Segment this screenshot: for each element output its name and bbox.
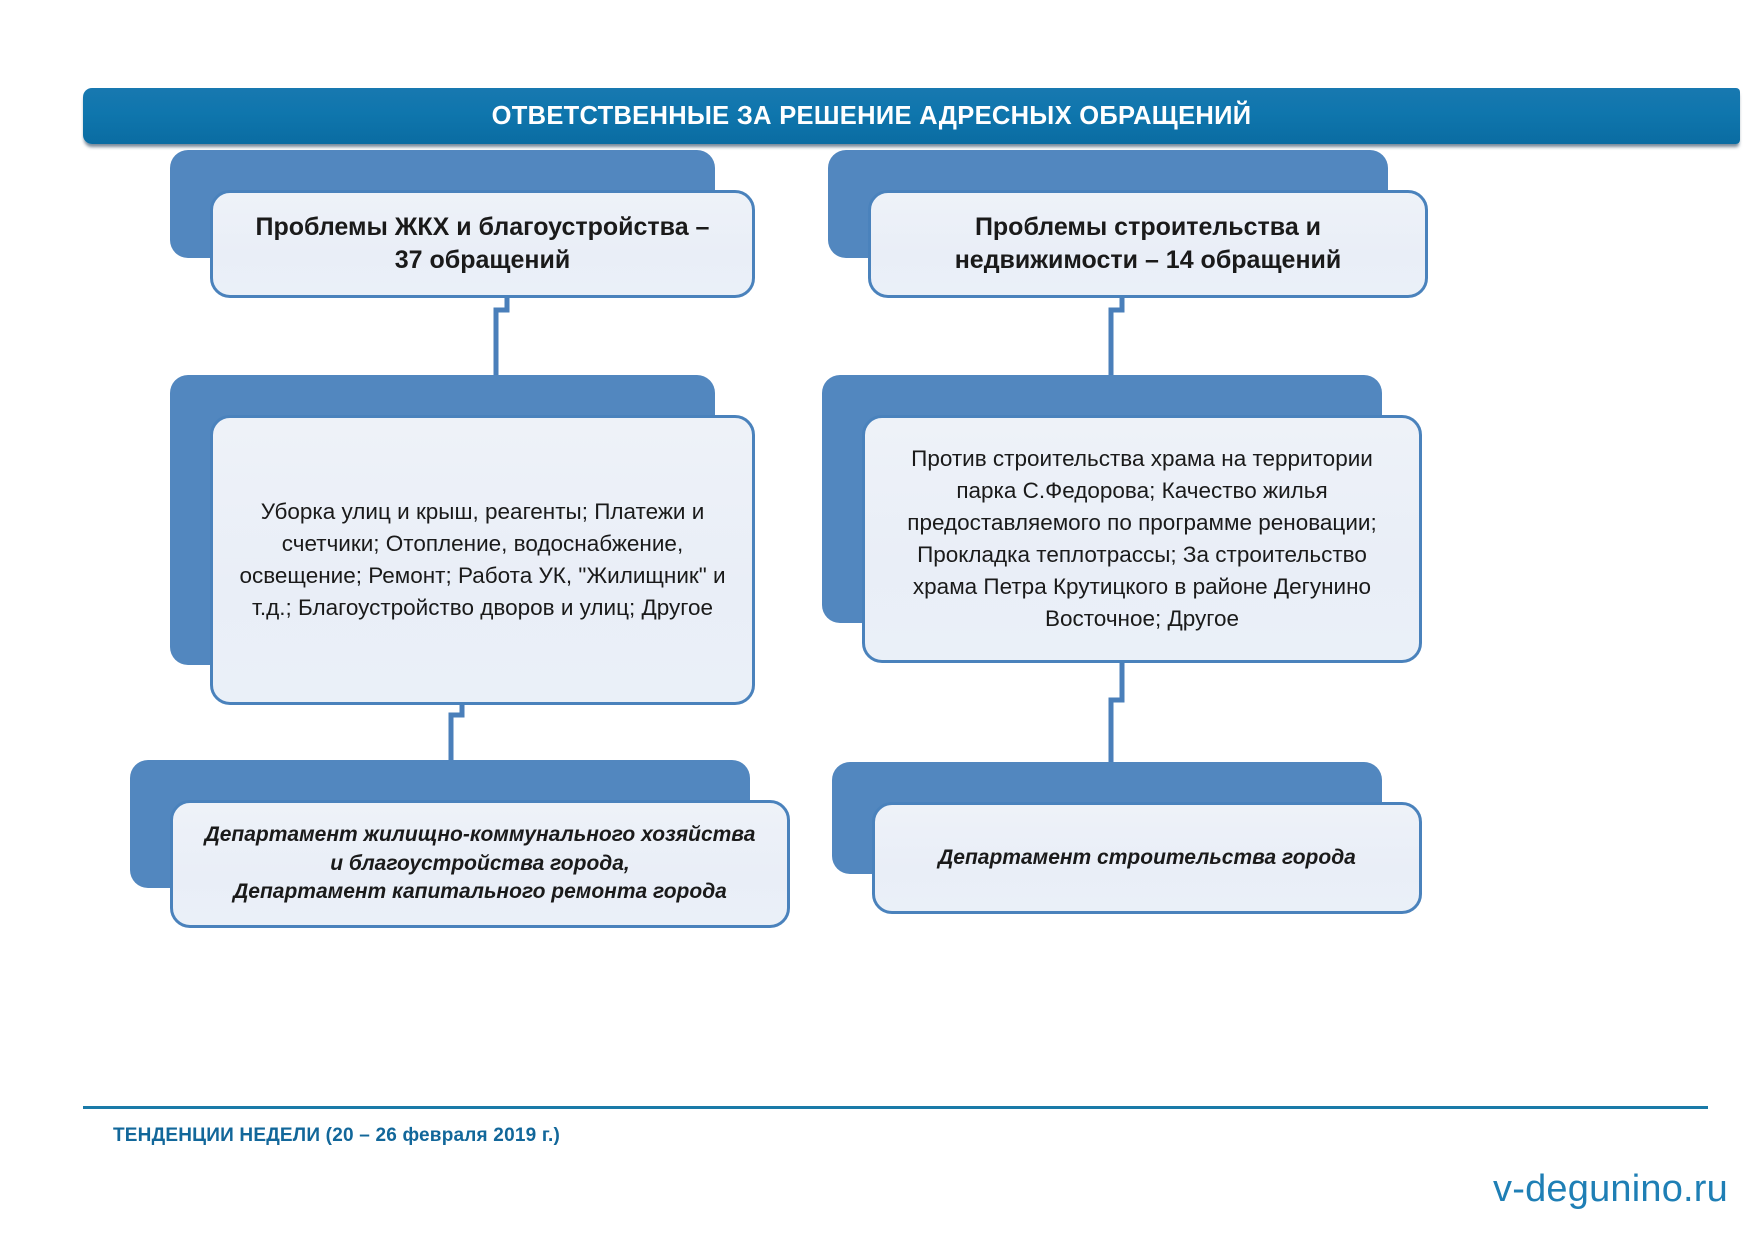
site-url: v-degunino.ru — [1493, 1168, 1728, 1211]
node-label: Департамент строительства города — [938, 844, 1356, 873]
footer-label: ТЕНДЕНЦИИ НЕДЕЛИ (20 – 26 февраля 2019 г… — [113, 1125, 560, 1147]
node-face: Против строительства храма на территории… — [862, 415, 1422, 663]
node-category-construction[interactable]: Проблемы строительства и недвижимости – … — [828, 150, 1388, 258]
node-department-zhkh[interactable]: Департамент жилищно-коммунального хозяйс… — [130, 760, 750, 888]
node-face: Проблемы строительства и недвижимости – … — [868, 190, 1428, 298]
node-topics-construction[interactable]: Против строительства храма на территории… — [822, 375, 1382, 623]
node-category-zhkh[interactable]: Проблемы ЖКХ и благоустройства – 37 обра… — [170, 150, 715, 258]
node-face: Уборка улиц и крыш, реагенты; Платежи и … — [210, 415, 755, 705]
page-title: ОТВЕТСТВЕННЫЕ ЗА РЕШЕНИЕ АДРЕСНЫХ ОБРАЩЕ… — [492, 102, 1252, 131]
node-label: Против строительства храма на территории… — [891, 443, 1393, 635]
node-label: Проблемы ЖКХ и благоустройства – 37 обра… — [239, 211, 726, 277]
node-face: Департамент жилищно-коммунального хозяйс… — [170, 800, 790, 928]
node-label: Уборка улиц и крыш, реагенты; Платежи и … — [239, 496, 726, 624]
node-label: Проблемы строительства и недвижимости – … — [897, 211, 1399, 277]
slide-canvas: ОТВЕТСТВЕННЫЕ ЗА РЕШЕНИЕ АДРЕСНЫХ ОБРАЩЕ… — [0, 0, 1754, 1240]
footer-divider — [83, 1106, 1708, 1109]
node-label: Департамент жилищно-коммунального хозяйс… — [199, 821, 761, 908]
node-face: Департамент строительства города — [872, 802, 1422, 914]
node-topics-zhkh[interactable]: Уборка улиц и крыш, реагенты; Платежи и … — [170, 375, 715, 665]
node-department-construction[interactable]: Департамент строительства города — [832, 762, 1382, 874]
node-face: Проблемы ЖКХ и благоустройства – 37 обра… — [210, 190, 755, 298]
slide-header-banner: ОТВЕТСТВЕННЫЕ ЗА РЕШЕНИЕ АДРЕСНЫХ ОБРАЩЕ… — [83, 88, 1740, 144]
